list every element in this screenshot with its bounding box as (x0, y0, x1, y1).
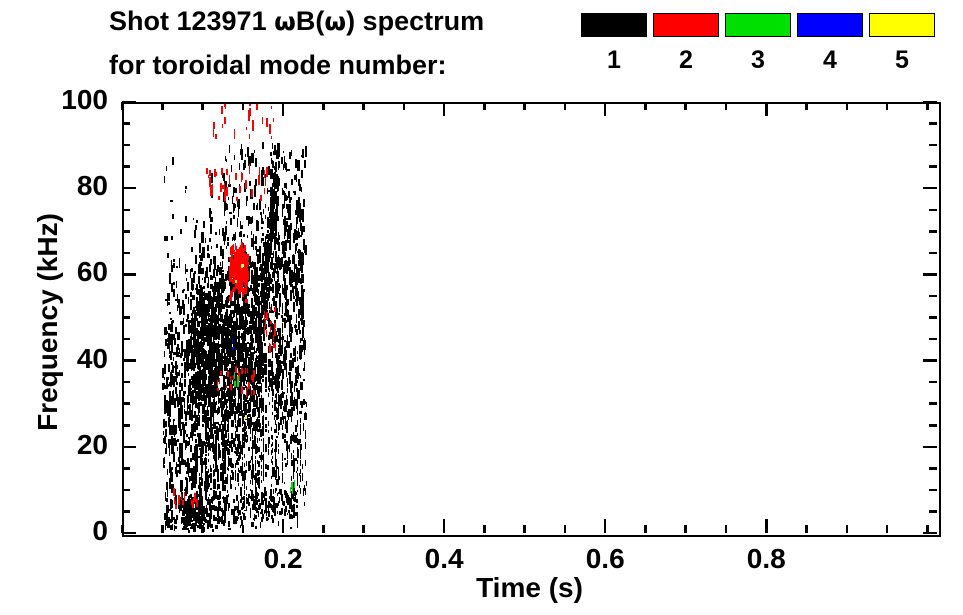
spectrum-point-mode-1 (304, 362, 305, 369)
spectrum-point-mode-1 (221, 267, 222, 275)
spectrum-point-mode-2 (266, 312, 268, 320)
y-tick-right-60 (923, 273, 937, 276)
spectrum-point-mode-1 (260, 522, 261, 528)
spectrum-point-mode-1 (246, 461, 247, 466)
spectrum-point-mode-1 (255, 465, 256, 468)
spectrum-point-mode-1 (244, 421, 245, 427)
spectrum-point-mode-1 (261, 401, 262, 407)
spectrum-point-mode-1 (228, 421, 229, 427)
spectrum-point-mode-1 (289, 244, 290, 247)
spectrum-point-mode-1 (237, 294, 238, 301)
spectrum-point-mode-2 (253, 370, 255, 376)
spectrum-point-mode-1 (177, 439, 179, 443)
spectrum-point-mode-1 (275, 287, 278, 298)
spectrum-point-mode-1 (222, 437, 223, 441)
spectrum-point-mode-1 (246, 405, 247, 408)
spectrum-point-mode-1 (219, 398, 222, 402)
spectrum-point-mode-1 (238, 420, 239, 425)
spectrum-point-mode-1 (257, 366, 258, 369)
spectrum-point-mode-1 (242, 438, 243, 441)
spectrum-point-mode-1 (209, 417, 210, 421)
spectrum-point-mode-1 (255, 351, 256, 353)
spectrum-point-mode-1 (225, 156, 226, 161)
spectrum-point-mode-1 (243, 234, 245, 238)
spectrum-point-mode-1 (268, 386, 269, 390)
spectrum-point-mode-1 (265, 508, 266, 511)
spectrum-point-mode-2 (260, 195, 262, 201)
spectrum-point-mode-1 (213, 470, 215, 476)
spectrum-point-mode-1 (224, 452, 225, 458)
spectrum-point-mode-1 (218, 422, 219, 425)
spectrum-point-mode-1 (231, 477, 232, 480)
spectrum-point-mode-1 (234, 507, 236, 510)
spectrum-point-mode-1 (244, 442, 245, 445)
spectrum-point-mode-1 (183, 304, 185, 315)
spectrum-point-mode-1 (229, 212, 231, 214)
spectrum-point-mode-1 (169, 382, 171, 386)
spectrum-point-mode-1 (290, 436, 291, 444)
legend-item-mode-4[interactable]: 4 (797, 13, 863, 37)
legend-item-mode-1[interactable]: 1 (581, 13, 647, 37)
spectrum-point-mode-2 (226, 169, 228, 175)
spectrum-point-mode-1 (278, 423, 279, 431)
spectrum-point-mode-1 (164, 176, 166, 183)
spectrum-point-mode-1 (175, 526, 177, 529)
spectrum-point-mode-1 (287, 335, 288, 342)
spectrum-point-mode-1 (228, 410, 229, 414)
spectrum-point-mode-1 (273, 190, 274, 196)
spectrum-point-mode-1 (258, 461, 259, 467)
spectrum-point-mode-1 (208, 336, 209, 341)
spectrum-point-mode-1 (215, 506, 217, 511)
spectrum-point-mode-2 (220, 371, 222, 376)
spectrum-point-mode-1 (263, 425, 264, 429)
spectrum-point-mode-1 (258, 511, 259, 516)
spectrum-point-mode-2 (271, 106, 273, 109)
spectrum-point-mode-2 (248, 382, 250, 388)
spectrum-point-mode-1 (248, 217, 249, 226)
spectrum-point-mode-1 (246, 439, 247, 443)
spectrum-point-mode-1 (255, 430, 256, 435)
spectrum-point-mode-2 (264, 188, 266, 193)
spectrum-point-mode-1 (275, 415, 276, 417)
spectrum-point-mode-1 (205, 421, 206, 426)
spectrum-point-mode-1 (277, 384, 278, 392)
spectrum-point-mode-1 (208, 358, 209, 363)
spectrum-point-mode-1 (193, 527, 195, 532)
spectrum-point-mode-2 (234, 129, 236, 139)
spectrum-point-mode-1 (175, 429, 177, 435)
spectrum-point-mode-1 (206, 466, 207, 470)
y-tick-5 (122, 510, 130, 513)
spectrum-point-mode-1 (188, 373, 190, 376)
spectrum-point-mode-1 (289, 327, 290, 337)
spectrum-point-mode-1 (236, 362, 237, 366)
y-tick-right-80 (923, 187, 937, 190)
spectrum-point-mode-1 (218, 350, 219, 355)
legend-swatch-mode-4 (797, 13, 863, 37)
spectrum-point-mode-1 (192, 520, 194, 522)
x-tick-top-0.9 (846, 102, 849, 110)
spectrum-point-mode-1 (173, 259, 175, 263)
spectrum-point-mode-1 (271, 238, 272, 247)
spectrum-point-mode-1 (202, 278, 203, 280)
spectrum-point-mode-1 (181, 397, 184, 403)
spectrum-point-mode-1 (218, 501, 221, 505)
spectrum-point-mode-1 (217, 484, 218, 491)
spectrum-point-mode-1 (193, 523, 196, 525)
spectrum-point-mode-1 (235, 487, 236, 489)
spectrum-point-mode-1 (303, 199, 305, 204)
spectrum-point-mode-1 (220, 246, 222, 255)
spectrum-point-mode-1 (224, 305, 227, 307)
spectrum-point-mode-1 (238, 473, 239, 479)
spectrum-point-mode-1 (250, 508, 251, 518)
spectrum-point-mode-2 (264, 311, 266, 319)
spectrum-point-mode-1 (261, 429, 262, 434)
spectrum-point-mode-1 (208, 353, 209, 358)
y-tick-15 (122, 467, 130, 470)
spectrum-point-mode-1 (291, 392, 293, 396)
spectrum-point-mode-1 (282, 501, 284, 503)
spectrum-point-mode-1 (297, 519, 298, 528)
spectrum-point-mode-1 (173, 357, 175, 361)
spectrum-point-mode-1 (180, 429, 182, 436)
spectrum-point-mode-1 (257, 493, 259, 496)
spectrum-point-mode-1 (171, 236, 172, 239)
legend-item-mode-5[interactable]: 5 (869, 13, 935, 37)
spectrum-point-mode-1 (205, 496, 206, 500)
spectrum-point-mode-1 (273, 200, 275, 209)
spectrum-point-mode-1 (296, 218, 298, 224)
spectrum-point-mode-1 (208, 459, 209, 462)
spectrum-point-mode-1 (247, 235, 248, 238)
spectrum-point-mode-1 (263, 463, 264, 466)
spectrum-point-mode-1 (298, 309, 300, 318)
spectrum-point-mode-1 (268, 289, 271, 298)
spectrum-point-mode-1 (241, 306, 244, 310)
spectrum-point-mode-2 (233, 271, 235, 276)
spectrum-point-mode-1 (275, 439, 276, 443)
spectrum-point-mode-1 (238, 455, 239, 459)
spectrum-point-mode-1 (201, 232, 203, 240)
spectrum-point-mode-1 (302, 274, 304, 282)
spectrum-point-mode-1 (231, 395, 233, 402)
spectrum-point-mode-1 (204, 295, 206, 302)
spectrum-point-mode-1 (274, 510, 276, 516)
spectrum-point-mode-1 (291, 434, 292, 436)
y-tick-label-100: 100 (0, 84, 108, 116)
spectrum-point-mode-1 (300, 330, 301, 334)
spectrum-point-mode-1 (291, 416, 292, 422)
spectrum-point-mode-1 (261, 395, 262, 400)
spectrum-point-mode-1 (271, 459, 272, 463)
spectrum-point-mode-1 (164, 377, 166, 380)
spectrum-point-mode-2 (222, 169, 224, 174)
spectrum-point-mode-1 (181, 373, 183, 379)
spectrum-point-mode-1 (254, 321, 256, 325)
spectrum-point-mode-1 (282, 462, 283, 466)
spectrum-point-mode-1 (228, 521, 230, 526)
spectrum-point-mode-1 (275, 455, 276, 460)
spectrum-point-mode-1 (224, 437, 225, 442)
spectrum-point-mode-1 (297, 447, 298, 449)
spectrum-point-mode-1 (192, 295, 194, 300)
spectrum-point-mode-1 (268, 449, 269, 455)
spectrum-point-mode-1 (304, 338, 305, 341)
spectrum-point-mode-1 (224, 488, 225, 492)
spectrum-point-mode-1 (240, 377, 242, 385)
spectrum-point-mode-1 (275, 449, 276, 453)
legend-swatch-mode-5 (869, 13, 935, 37)
spectrum-point-mode-1 (301, 155, 303, 158)
spectrum-point-mode-1 (258, 419, 259, 424)
spectrum-point-mode-1 (194, 230, 196, 238)
spectrum-point-mode-1 (217, 512, 219, 516)
spectrum-point-mode-1 (257, 223, 258, 230)
spectrum-point-mode-1 (213, 256, 216, 264)
spectrum-point-mode-1 (197, 433, 199, 437)
spectrum-point-mode-1 (185, 190, 186, 194)
spectrum-point-mode-1 (212, 363, 214, 367)
spectrum-point-mode-1 (167, 523, 169, 525)
omega-symbol-2: ω (324, 7, 346, 36)
spectrum-point-mode-1 (257, 460, 258, 464)
spectrum-point-mode-1 (196, 299, 199, 304)
spectrum-point-mode-1 (241, 507, 243, 510)
spectrum-point-mode-1 (295, 159, 297, 168)
spectrum-point-mode-1 (259, 438, 260, 440)
spectrum-point-mode-1 (255, 526, 257, 529)
spectrum-point-mode-1 (261, 227, 263, 230)
spectrum-point-mode-2 (206, 168, 208, 174)
spectrum-point-mode-1 (224, 380, 225, 384)
spectrum-point-mode-1 (261, 376, 262, 378)
spectrum-point-mode-1 (205, 454, 206, 457)
spectrum-point-mode-1 (296, 471, 297, 473)
spectrum-point-mode-1 (213, 481, 214, 483)
spectrum-point-mode-1 (282, 350, 283, 354)
spectrum-point-mode-1 (235, 516, 237, 521)
spectrum-point-mode-1 (201, 268, 204, 274)
spectrum-point-mode-1 (259, 394, 260, 397)
spectrum-point-mode-1 (210, 488, 211, 490)
spectrum-point-mode-1 (253, 385, 255, 388)
spectrum-point-mode-1 (286, 368, 287, 377)
spectrum-point-mode-1 (235, 398, 236, 401)
legend-item-mode-2[interactable]: 2 (653, 13, 719, 37)
spectrum-point-mode-1 (243, 516, 245, 518)
spectrum-point-mode-1 (198, 503, 200, 506)
spectrum-point-mode-1 (288, 213, 290, 219)
spectrum-point-mode-2 (236, 197, 238, 200)
spectrum-point-mode-2 (241, 368, 243, 374)
spectrum-point-mode-2 (230, 384, 232, 390)
spectrum-point-mode-1 (268, 437, 269, 441)
spectrum-point-mode-1 (240, 221, 241, 229)
spectrum-point-mode-1 (304, 349, 305, 355)
spectrum-point-mode-1 (282, 334, 283, 338)
spectrum-point-mode-2 (225, 104, 227, 109)
spectrum-point-mode-1 (296, 499, 297, 503)
spectrum-point-mode-1 (300, 235, 302, 237)
legend-item-mode-3[interactable]: 3 (725, 13, 791, 37)
spectrum-point-mode-1 (221, 508, 224, 511)
spectrum-point-mode-1 (304, 247, 306, 253)
spectrum-point-mode-1 (297, 357, 298, 361)
spectrum-point-mode-1 (218, 359, 221, 366)
spectrum-point-mode-1 (202, 519, 203, 523)
spectrum-point-mode-1 (227, 392, 229, 395)
spectrum-point-mode-1 (198, 289, 201, 293)
spectrum-point-mode-1 (290, 278, 291, 286)
spectrum-point-mode-1 (287, 453, 288, 459)
x-tick-0.2 (282, 519, 285, 533)
spectrum-point-mode-1 (268, 501, 270, 506)
spectrum-point-mode-1 (230, 354, 233, 356)
spectrum-point-mode-1 (268, 443, 269, 448)
spectrum-point-mode-1 (268, 511, 271, 517)
spectrum-point-mode-1 (250, 366, 251, 370)
spectrum-point-mode-1 (205, 350, 206, 355)
spectrum-point-mode-1 (250, 285, 252, 289)
spectrum-point-mode-1 (288, 409, 290, 417)
spectrum-point-mode-1 (279, 476, 280, 480)
y-tick-65 (122, 252, 130, 255)
spectrum-point-mode-1 (276, 424, 277, 429)
spectrum-point-mode-1 (206, 441, 207, 444)
spectrum-point-mode-1 (185, 294, 188, 299)
spectrum-point-mode-1 (242, 448, 243, 452)
spectrum-point-mode-1 (257, 385, 258, 391)
spectrum-point-mode-1 (184, 489, 186, 491)
y-tick-right-15 (929, 467, 937, 470)
spectrum-point-mode-1 (213, 464, 214, 468)
spectrum-point-mode-1 (187, 363, 189, 368)
spectrum-point-mode-1 (275, 394, 276, 398)
spectrum-point-mode-1 (268, 370, 269, 375)
spectrum-point-mode-1 (276, 174, 278, 178)
spectrum-point-mode-1 (278, 348, 280, 354)
spectrum-point-mode-1 (194, 326, 196, 330)
spectrum-point-mode-1 (183, 358, 184, 361)
spectrum-point-mode-1 (228, 468, 229, 471)
spectrum-point-mode-1 (274, 275, 275, 281)
spectrum-point-mode-1 (241, 149, 243, 159)
spectrum-point-mode-1 (168, 364, 170, 372)
spectrum-point-mode-1 (214, 444, 216, 452)
spectrum-point-mode-1 (210, 437, 211, 439)
spectrum-point-mode-1 (208, 342, 209, 347)
spectrum-point-mode-1 (254, 271, 255, 277)
spectrum-point-mode-1 (258, 221, 259, 232)
spectrum-point-mode-1 (172, 520, 174, 522)
spectrum-point-mode-1 (224, 396, 225, 400)
spectrum-point-mode-1 (214, 456, 216, 460)
spectrum-point-mode-1 (200, 341, 202, 347)
spectrum-point-mode-1 (301, 170, 303, 178)
spectrum-point-mode-1 (185, 186, 187, 189)
spectrum-point-mode-1 (181, 341, 183, 351)
spectrum-point-mode-1 (282, 425, 283, 430)
spectrum-point-mode-1 (186, 340, 187, 350)
spectrum-point-mode-2 (217, 388, 219, 391)
spectrum-point-mode-1 (242, 336, 245, 344)
spectrum-point-mode-1 (272, 397, 273, 402)
x-axis-title: Time (s) (122, 572, 937, 604)
spectrum-point-mode-1 (180, 400, 182, 405)
spectrum-point-mode-1 (282, 376, 283, 380)
spectrum-point-mode-2 (230, 291, 233, 297)
spectrum-point-mode-1 (250, 460, 251, 463)
spectrum-point-mode-1 (278, 444, 279, 448)
spectrum-point-mode-1 (297, 390, 298, 394)
spectrum-point-mode-1 (253, 247, 254, 250)
spectrum-point-mode-2 (266, 118, 268, 127)
spectrum-point-mode-1 (249, 328, 252, 330)
spectrum-point-mode-1 (287, 450, 288, 453)
spectrum-point-mode-1 (169, 312, 171, 315)
spectrum-point-mode-1 (264, 343, 267, 347)
spectrum-point-mode-1 (293, 191, 295, 193)
spectrum-point-mode-1 (173, 334, 176, 340)
spectrum-point-mode-1 (176, 281, 177, 288)
spectrum-point-mode-1 (278, 242, 280, 251)
spectrum-point-mode-1 (255, 483, 256, 487)
spectrum-point-mode-1 (244, 454, 245, 458)
spectrum-point-mode-1 (235, 476, 236, 481)
spectrum-point-mode-1 (285, 401, 286, 410)
spectrum-point-mode-1 (168, 302, 170, 305)
spectrum-point-mode-1 (222, 427, 223, 430)
spectrum-point-mode-1 (205, 317, 206, 322)
spectrum-point-mode-1 (276, 400, 277, 404)
spectrum-point-mode-1 (250, 414, 251, 420)
spectrum-point-mode-1 (213, 490, 215, 495)
spectrum-point-mode-1 (264, 353, 267, 362)
spectrum-point-mode-2 (266, 167, 268, 177)
spectrum-point-mode-1 (231, 368, 232, 373)
spectrum-point-mode-1 (265, 377, 266, 380)
spectrum-point-mode-1 (164, 351, 166, 357)
spectrum-point-mode-1 (239, 510, 241, 515)
spectrum-point-mode-1 (209, 342, 210, 344)
spectrum-point-mode-1 (260, 319, 262, 324)
spectrum-point-mode-1 (261, 389, 262, 393)
spectrum-point-mode-1 (302, 334, 304, 336)
spectrum-point-mode-1 (184, 430, 186, 434)
spectrum-point-mode-1 (209, 483, 210, 487)
spectrum-point-mode-1 (287, 460, 288, 465)
spectrum-point-mode-1 (246, 320, 248, 326)
spectrum-point-mode-1 (197, 321, 199, 327)
spectrum-point-mode-1 (196, 346, 197, 348)
spectrum-point-mode-1 (244, 437, 245, 439)
spectrum-point-mode-1 (280, 258, 281, 264)
spectrum-point-mode-1 (212, 342, 214, 347)
y-tick-45 (122, 338, 130, 341)
spectrum-point-mode-1 (227, 242, 229, 245)
spectrum-point-mode-1 (242, 443, 243, 446)
spectrum-point-mode-1 (193, 481, 196, 488)
spectrum-point-mode-2 (230, 376, 232, 382)
spectrum-point-mode-1 (294, 389, 295, 391)
spectrum-point-mode-1 (211, 325, 212, 331)
spectrum-point-mode-1 (248, 159, 249, 162)
spectrum-point-mode-1 (210, 284, 213, 290)
spectrum-point-mode-1 (213, 515, 215, 519)
spectrum-point-mode-1 (235, 354, 236, 356)
